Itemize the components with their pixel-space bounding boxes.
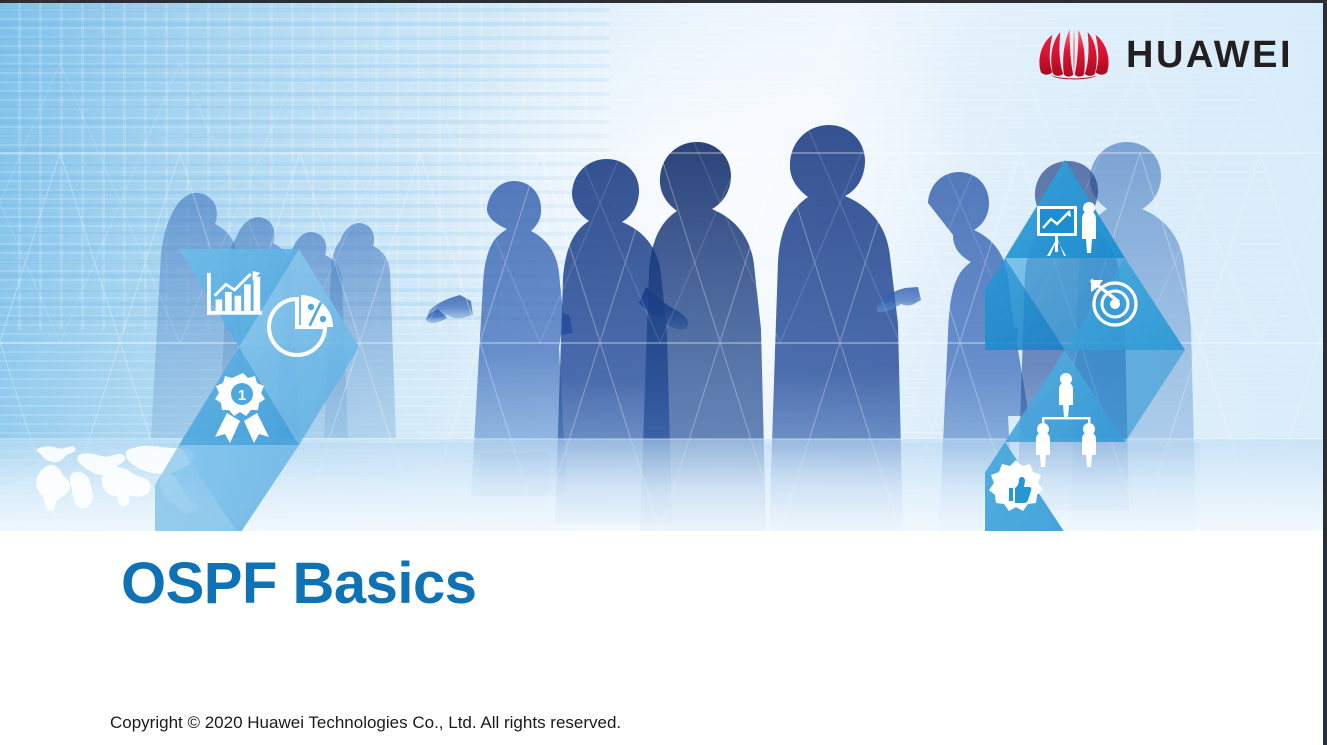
huawei-flower-logo xyxy=(1038,29,1110,81)
left-icon-tile-cluster: 1 xyxy=(155,243,395,531)
huawei-logo: HUAWEI xyxy=(1038,29,1293,81)
svg-text:1: 1 xyxy=(238,387,246,404)
huawei-wordmark: HUAWEI xyxy=(1126,36,1293,74)
presentation-slide: 1 xyxy=(0,0,1327,745)
copyright-footer: Copyright © 2020 Huawei Technologies Co.… xyxy=(110,713,621,733)
page-title: OSPF Basics xyxy=(121,552,477,616)
hero-banner: 1 xyxy=(0,3,1327,531)
right-icon-tile-cluster xyxy=(985,158,1185,531)
